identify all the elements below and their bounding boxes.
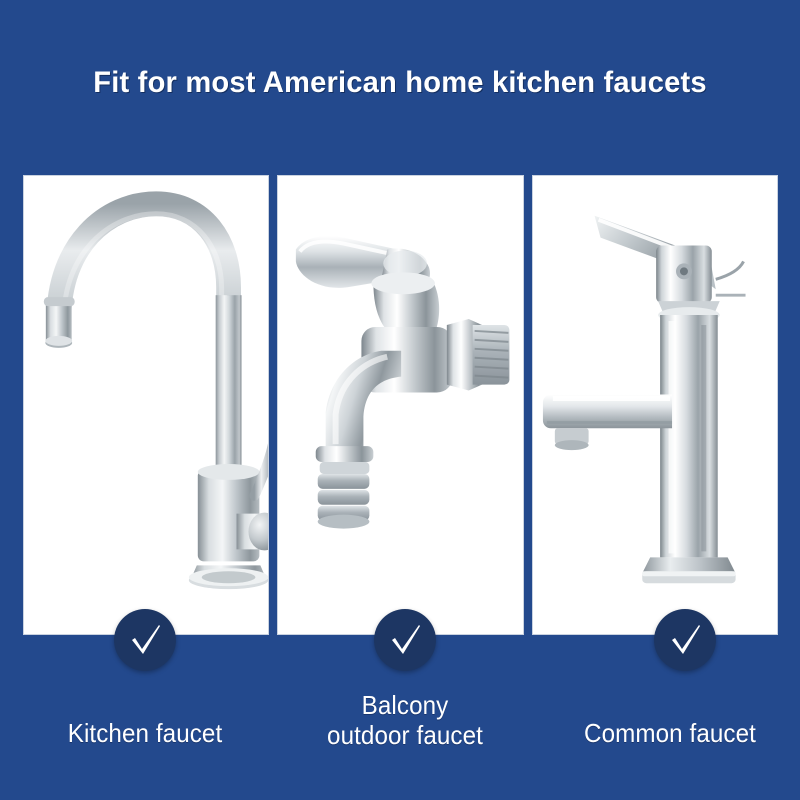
caption-balcony-outdoor-faucet: Balcony outdoor faucet bbox=[293, 690, 516, 750]
faucet-card-kitchen[interactable] bbox=[23, 175, 269, 635]
page-title: Fit for most American home kitchen fauce… bbox=[12, 66, 788, 100]
faucet-card-common[interactable] bbox=[532, 175, 778, 635]
caption-line: Common faucet bbox=[554, 718, 787, 748]
caption-line: Kitchen faucet bbox=[15, 718, 275, 748]
check-icon bbox=[665, 620, 705, 660]
caption-common-faucet: Common faucet bbox=[554, 718, 787, 748]
check-badge-kitchen bbox=[114, 609, 176, 671]
check-icon bbox=[125, 620, 165, 660]
product-infographic: Fit for most American home kitchen fauce… bbox=[0, 0, 800, 800]
caption-kitchen-faucet: Kitchen faucet bbox=[15, 718, 275, 748]
check-icon bbox=[385, 620, 425, 660]
caption-line: outdoor faucet bbox=[293, 720, 516, 750]
check-badge-common bbox=[654, 609, 716, 671]
faucet-card-row bbox=[23, 175, 778, 635]
wall-mounted-bibcock-faucet-image bbox=[278, 176, 522, 631]
faucet-card-balcony[interactable] bbox=[277, 175, 523, 635]
gooseneck-kitchen-faucet-image bbox=[24, 176, 268, 631]
square-basin-mixer-faucet-image bbox=[533, 176, 777, 631]
check-badge-balcony bbox=[374, 609, 436, 671]
caption-line: Balcony bbox=[293, 690, 516, 720]
